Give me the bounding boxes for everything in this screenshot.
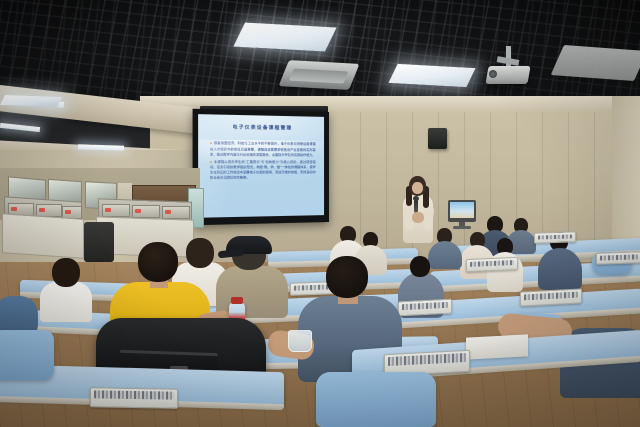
electronic-test-instrument (162, 206, 190, 219)
slide-paragraph: 本课程以培养学生的"工程意识"与"创新能力"为核心目标，通过项目驱动、任务引领的… (210, 159, 316, 180)
air-conditioner-cassette-icon (279, 60, 360, 90)
paper-handout (466, 334, 528, 359)
classroom-photo: 电子仪表设备课程管理 随着我国经济、科技与工业水平的不断提升，电子仪表与测量设备… (0, 0, 640, 427)
student-child-white-shirt (40, 282, 92, 322)
bottle-cap (231, 297, 243, 304)
presenter-face (412, 182, 423, 194)
monitor-base (453, 226, 471, 229)
student-head (186, 238, 214, 268)
student-right-blue-shirt (538, 248, 582, 290)
electronic-circuit-kit (596, 251, 640, 265)
slide-title: 电子仪表设备课程管理 (198, 123, 324, 131)
electronic-circuit-kit (466, 257, 518, 272)
air-vent-icon (551, 45, 640, 81)
microphone-icon (414, 199, 418, 213)
slide-paragraph: 随着我国经济、科技与工业水平的不断提升，电子仪表与测量设备课程在人才培养中的地位… (210, 141, 316, 157)
slide-body: 随着我国经济、科技与工业水平的不断提升，电子仪表与测量设备课程在人才培养中的地位… (210, 141, 316, 182)
student-blue-shirt (428, 241, 462, 269)
student-head (138, 242, 178, 282)
electronic-test-instrument (132, 205, 160, 218)
lab-stool (84, 222, 114, 262)
student-head (52, 258, 80, 287)
student-head (410, 256, 430, 277)
monitor-screen (450, 202, 474, 218)
microphone-head-icon (413, 196, 419, 201)
electronic-circuit-kit (90, 387, 178, 409)
ceiling-panel-light (233, 23, 336, 52)
electronic-circuit-kit (398, 299, 452, 317)
plastic-cup (288, 330, 312, 352)
projection-screen: 电子仪表设备课程管理 随着我国经济、科技与工业水平的不断提升，电子仪表与测量设备… (193, 109, 329, 226)
electronic-test-instrument (102, 204, 130, 217)
student-black-cap (216, 266, 288, 318)
presenter-hands (412, 212, 424, 223)
slide-surface: 电子仪表设备课程管理 随着我国经济、科技与工业水平的不断提升，电子仪表与测量设备… (198, 114, 324, 218)
student-head (326, 256, 368, 298)
speaker-icon (428, 128, 447, 149)
electronic-circuit-kit (534, 231, 576, 243)
student-chair (316, 372, 436, 427)
projector-lens-icon (489, 70, 497, 78)
ceiling-panel-light (388, 64, 475, 87)
ceiling-panel-light (0, 95, 62, 107)
student-chair (0, 330, 54, 380)
lab-bench (2, 213, 84, 259)
